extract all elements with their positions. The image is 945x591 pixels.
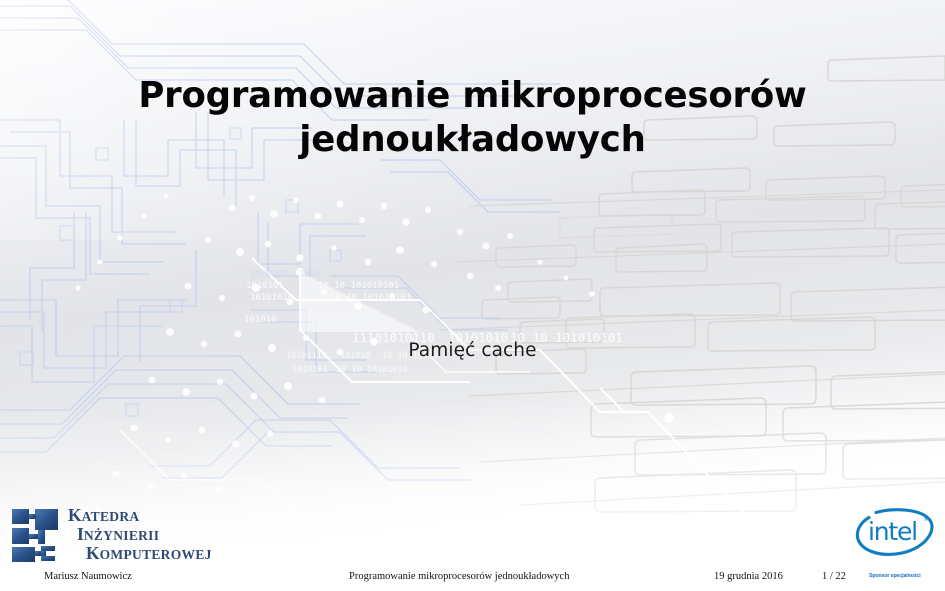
page-title: Programowanie mikroprocesorów jednoukład…	[0, 74, 945, 162]
svg-text:10101010: 10101010	[250, 269, 289, 278]
kik-line-2-rest: NŻYNIERII	[84, 528, 159, 543]
kik-block-mark	[11, 508, 59, 563]
svg-text:1010101: 1010101	[292, 365, 328, 375]
intel-wordmark: intel	[868, 517, 917, 546]
kik-line-2-cap: I	[77, 524, 84, 544]
svg-text:10 10 101010101: 10 10 101010101	[330, 293, 411, 303]
svg-text:1010101: 1010101	[246, 281, 284, 291]
title-line-2: jednoukładowych	[299, 119, 645, 160]
footer-sponsor-label: Sponsor specjalności	[869, 573, 921, 579]
footer-author: Mariusz Naumowicz	[44, 571, 132, 582]
kik-line-1-cap: K	[68, 505, 82, 525]
presentation-slide: 1010101 10 10 101010101 10101010 10 10 1…	[0, 0, 945, 591]
slide-subtitle: Pamięć cache	[408, 340, 536, 361]
footer-date: 19 grudnia 2016	[714, 571, 783, 582]
slide-footer: Mariusz Naumowicz Programowanie mikropro…	[0, 567, 945, 591]
svg-text:10 10 10101010: 10 10 10101010	[336, 365, 408, 375]
kik-line-3: KOMPUTEROWEJ	[68, 545, 212, 563]
katedra-inzynierii-komputerowej-logo: KATEDRA INŻYNIERII KOMPUTEROWEJ	[11, 503, 211, 567]
svg-text:10101010: 10101010	[250, 293, 293, 303]
svg-text:1010: 1010	[300, 269, 319, 278]
kik-line-2: INŻYNIERII	[68, 526, 212, 544]
subtitle-block: Pamięć cache	[0, 340, 945, 361]
title-line-1: Programowanie mikroprocesorów	[138, 75, 806, 116]
kik-line-1-rest: ATEDRA	[82, 509, 140, 524]
kik-line-1: KATEDRA	[68, 507, 212, 525]
svg-text:10 10 101010101: 10 10 101010101	[318, 281, 399, 291]
kik-line-3-cap: K	[86, 543, 100, 563]
intel-logo-mark: intel ®	[854, 505, 936, 557]
footer-title: Programowanie mikroprocesorów jednoukład…	[349, 571, 569, 582]
kik-wordmark: KATEDRA INŻYNIERII KOMPUTEROWEJ	[68, 507, 212, 563]
intel-trademark: ®	[923, 516, 929, 523]
kik-line-3-rest: OMPUTEROWEJ	[100, 547, 212, 562]
footer-page-number: 1 / 22	[822, 571, 846, 582]
title-block: Programowanie mikroprocesorów jednoukład…	[0, 74, 945, 162]
intel-logo: intel ®	[854, 505, 936, 557]
svg-text:101010: 101010	[244, 315, 277, 325]
